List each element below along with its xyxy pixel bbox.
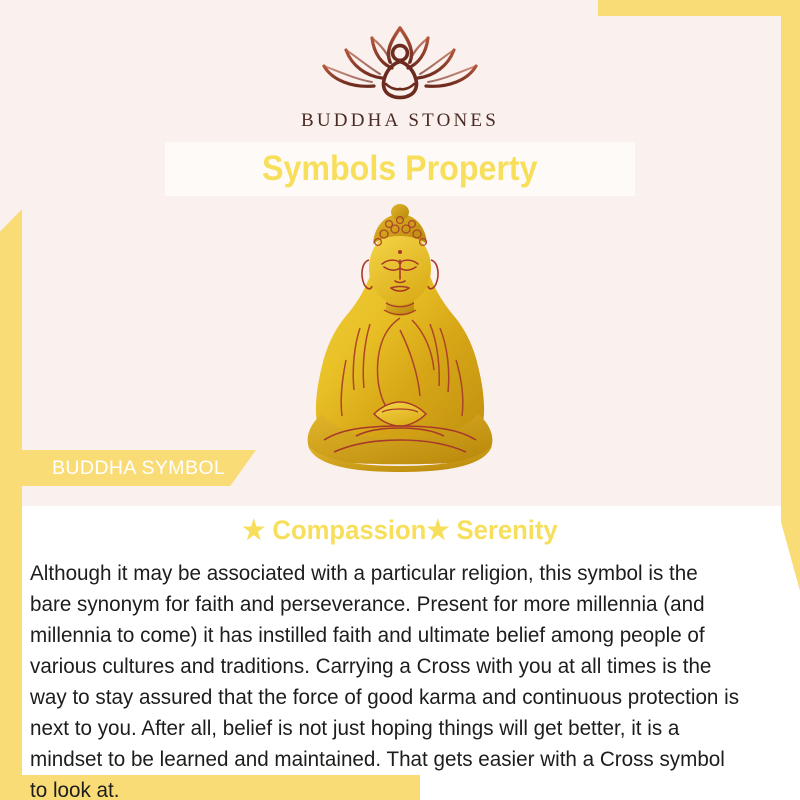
seated-buddha-statue-icon: [300, 200, 500, 490]
brand-name: BUDDHA STONES: [301, 110, 499, 132]
brand-logo: BUDDHA STONES: [0, 22, 800, 132]
hero-image: [300, 200, 500, 490]
subtitle: ★ Compassion★ Serenity: [20, 515, 780, 546]
page-root: BUDDHA STONES Symbols Property: [0, 0, 800, 800]
decor-top-right-strip: [598, 0, 800, 16]
decor-left-bar: [0, 209, 22, 775]
body-paragraph: Although it may be associated with a par…: [30, 558, 742, 800]
status-badge: BUDDHA SYMBOL: [22, 450, 256, 486]
title-banner: Symbols Property: [165, 142, 635, 196]
badge-label: BUDDHA SYMBOL: [52, 457, 225, 480]
page-title: Symbols Property: [262, 149, 538, 189]
lotus-meditation-icon: [312, 22, 488, 106]
